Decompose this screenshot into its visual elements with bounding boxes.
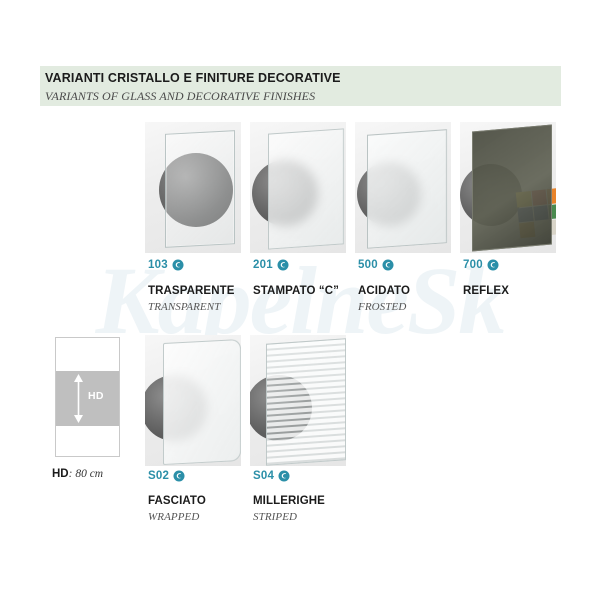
- product-name-en-millerighe: STRIPED: [253, 511, 297, 523]
- product-name-trasparente: TRASPARENTE: [148, 285, 235, 297]
- swirl-circle-icon: [278, 470, 290, 482]
- code-row-acidato: 500: [358, 259, 394, 271]
- product-code: 700: [463, 259, 483, 271]
- product-code: 500: [358, 259, 378, 271]
- swirl-circle-icon: [487, 259, 499, 271]
- glass-panel: [268, 128, 344, 249]
- hd-caption: HD: 80 cm: [52, 468, 103, 480]
- hd-caption-value: : 80 cm: [69, 468, 104, 480]
- page-title: VARIANTI CRISTALLO E FINITURE DECORATIVE: [45, 71, 341, 85]
- product-code: S02: [148, 470, 169, 482]
- product-name-en-fasciato: WRAPPED: [148, 511, 199, 523]
- sample-image-stampato-c[interactable]: [250, 122, 346, 253]
- product-name-millerighe: MILLERIGHE: [253, 495, 325, 507]
- sample-image-reflex[interactable]: [460, 122, 556, 253]
- swirl-circle-icon: [277, 259, 289, 271]
- code-row-reflex: 700: [463, 259, 499, 271]
- sample-image-acidato[interactable]: [355, 122, 451, 253]
- sample-image-fasciato[interactable]: [145, 335, 241, 466]
- hd-diagram: HD: [55, 337, 120, 457]
- hd-double-arrow-icon: [73, 374, 84, 423]
- product-name-stampato-c: STAMPATO “C”: [253, 285, 339, 297]
- code-row-millerighe: S04: [253, 470, 290, 482]
- product-name-en-trasparente: TRANSPARENT: [148, 301, 220, 313]
- catalog-page: KapelneSk VARIANTI CRISTALLO E FINITURE …: [0, 0, 600, 600]
- page-subtitle: VARIANTS OF GLASS AND DECORATIVE FINISHE…: [45, 89, 315, 104]
- glass-panel: [165, 130, 235, 248]
- glass-panel: [472, 125, 552, 252]
- code-row-trasparente: 103: [148, 259, 184, 271]
- product-code: S04: [253, 470, 274, 482]
- product-name-acidato: ACIDATO: [358, 285, 410, 297]
- sample-image-millerighe[interactable]: [250, 335, 346, 466]
- swirl-circle-icon: [173, 470, 185, 482]
- product-code: 103: [148, 259, 168, 271]
- hd-caption-label: HD: [52, 468, 69, 480]
- product-name-fasciato: FASCIATO: [148, 495, 206, 507]
- glass-panel: [163, 339, 241, 465]
- product-name-en-acidato: FROSTED: [358, 301, 406, 313]
- swirl-circle-icon: [382, 259, 394, 271]
- product-code: 201: [253, 259, 273, 271]
- glass-panel: [266, 338, 346, 466]
- glass-panel: [367, 129, 447, 249]
- swirl-circle-icon: [172, 259, 184, 271]
- code-row-fasciato: S02: [148, 470, 185, 482]
- sample-image-trasparente[interactable]: [145, 122, 241, 253]
- code-row-stampato-c: 201: [253, 259, 289, 271]
- hd-arrow-label: HD: [88, 390, 104, 402]
- product-name-reflex: REFLEX: [463, 285, 509, 297]
